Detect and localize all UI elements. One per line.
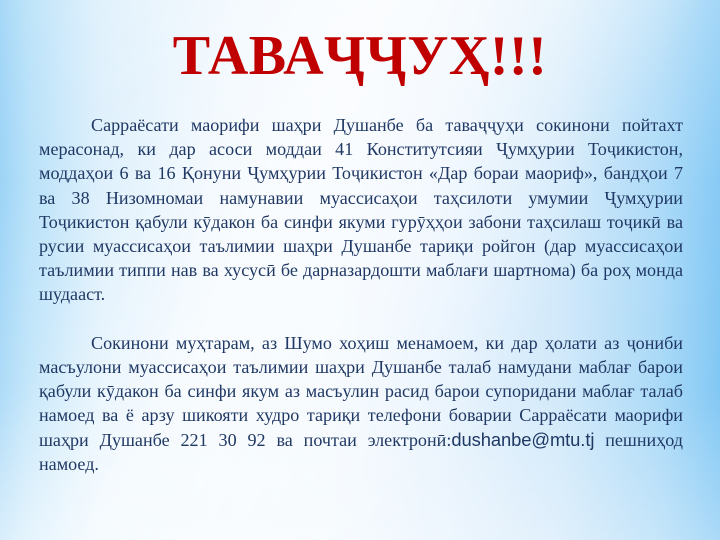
announcement-paragraph-1: Сарраёсати маорифи шаҳри Душанбе ба тава… <box>39 113 683 331</box>
paragraph-1-text: Сарраёсати маорифи шаҳри Душанбе ба тава… <box>39 115 683 304</box>
announcement-slide: ТАВАҶҶУҲ!!! Сарраёсати маорифи шаҳри Душ… <box>0 0 720 540</box>
announcement-body: Сарраёсати маорифи шаҳри Душанбе ба тава… <box>39 113 683 500</box>
slide-title: ТАВАҶҶУҲ!!! <box>0 26 720 86</box>
announcement-paragraph-2: Сокинони муҳтарам, аз Шумо хоҳиш менамое… <box>39 331 683 500</box>
contact-email[interactable]: dushanbe@mtu.tj <box>451 429 594 450</box>
slide-content: ТАВАҶҶУҲ!!! Сарраёсати маорифи шаҳри Душ… <box>0 0 720 540</box>
